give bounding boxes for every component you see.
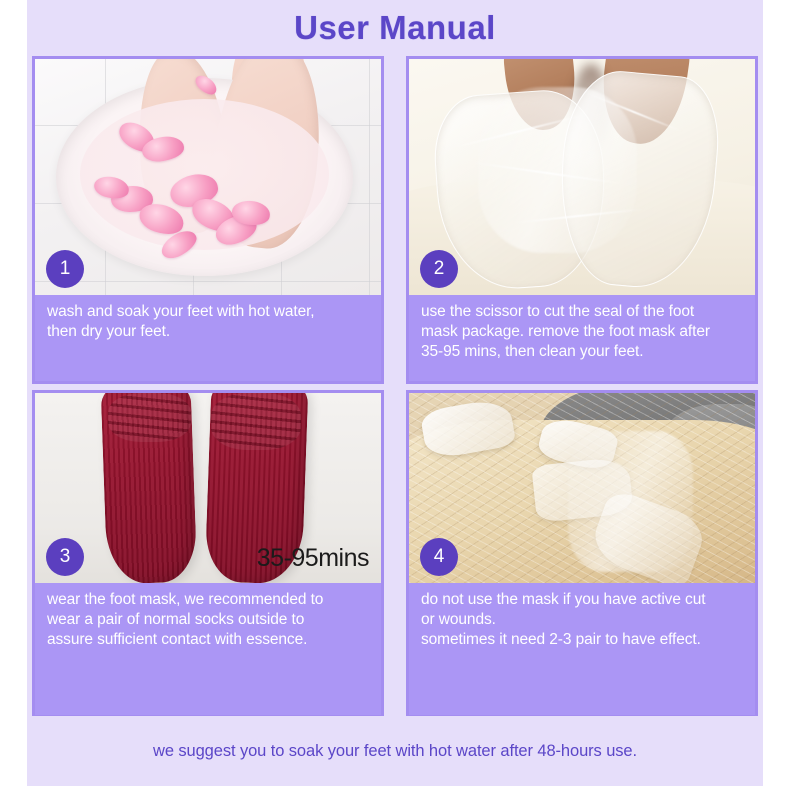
page-title: User Manual <box>294 9 496 47</box>
step-3-photo: 3 35-95mins <box>35 393 381 583</box>
plastic-sheen <box>478 87 637 252</box>
duration-label: 35-95mins <box>257 544 369 573</box>
manual-sheet: User Manual <box>27 0 763 786</box>
sock-cuff-right <box>211 393 301 450</box>
step-1-caption: wash and soak your feet with hot water, … <box>35 295 381 381</box>
caption-line: 35-95 mins, then clean your feet. <box>421 342 745 362</box>
step-3-caption: wear the foot mask, we recommended to we… <box>35 583 381 715</box>
step-badge: 2 <box>420 250 458 288</box>
step-2-caption: use the scissor to cut the seal of the f… <box>409 295 755 381</box>
footer: we suggest you to soak your feet with ho… <box>27 716 763 786</box>
caption-line: do not use the mask if you have active c… <box>421 590 745 610</box>
step-panel-4[interactable]: 4 do not use the mask if you have active… <box>406 390 758 718</box>
caption-line: or wounds. <box>421 610 745 630</box>
caption-line: mask package. remove the foot mask after <box>421 322 745 342</box>
caption-line: wear the foot mask, we recommended to <box>47 590 371 610</box>
caption-line: sometimes it need 2-3 pair to have effec… <box>421 630 745 650</box>
step-badge: 3 <box>46 538 84 576</box>
user-manual-page: User Manual <box>0 0 786 786</box>
step-badge: 1 <box>46 250 84 288</box>
footer-note: we suggest you to soak your feet with ho… <box>153 742 637 761</box>
step-panel-1[interactable]: 1 wash and soak your feet with hot water… <box>32 56 384 384</box>
steps-grid: 1 wash and soak your feet with hot water… <box>32 56 758 716</box>
caption-line: then dry your feet. <box>47 322 371 342</box>
step-badge: 4 <box>420 538 458 576</box>
caption-line: wash and soak your feet with hot water, <box>47 302 371 322</box>
step-1-photo: 1 <box>35 59 381 295</box>
film-sheen <box>568 431 693 572</box>
caption-line: use the scissor to cut the seal of the f… <box>421 302 745 322</box>
step-4-caption: do not use the mask if you have active c… <box>409 583 755 715</box>
sock-cuff-left <box>108 393 191 442</box>
step-2-photo: 2 <box>409 59 755 295</box>
caption-line: wear a pair of normal socks outside to <box>47 610 371 630</box>
step-panel-3[interactable]: 3 35-95mins wear the foot mask, we recom… <box>32 390 384 718</box>
header: User Manual <box>27 0 763 56</box>
step-4-photo: 4 <box>409 393 755 583</box>
caption-line: assure sufficient contact with essence. <box>47 630 371 650</box>
step-panel-2[interactable]: 2 use the scissor to cut the seal of the… <box>406 56 758 384</box>
